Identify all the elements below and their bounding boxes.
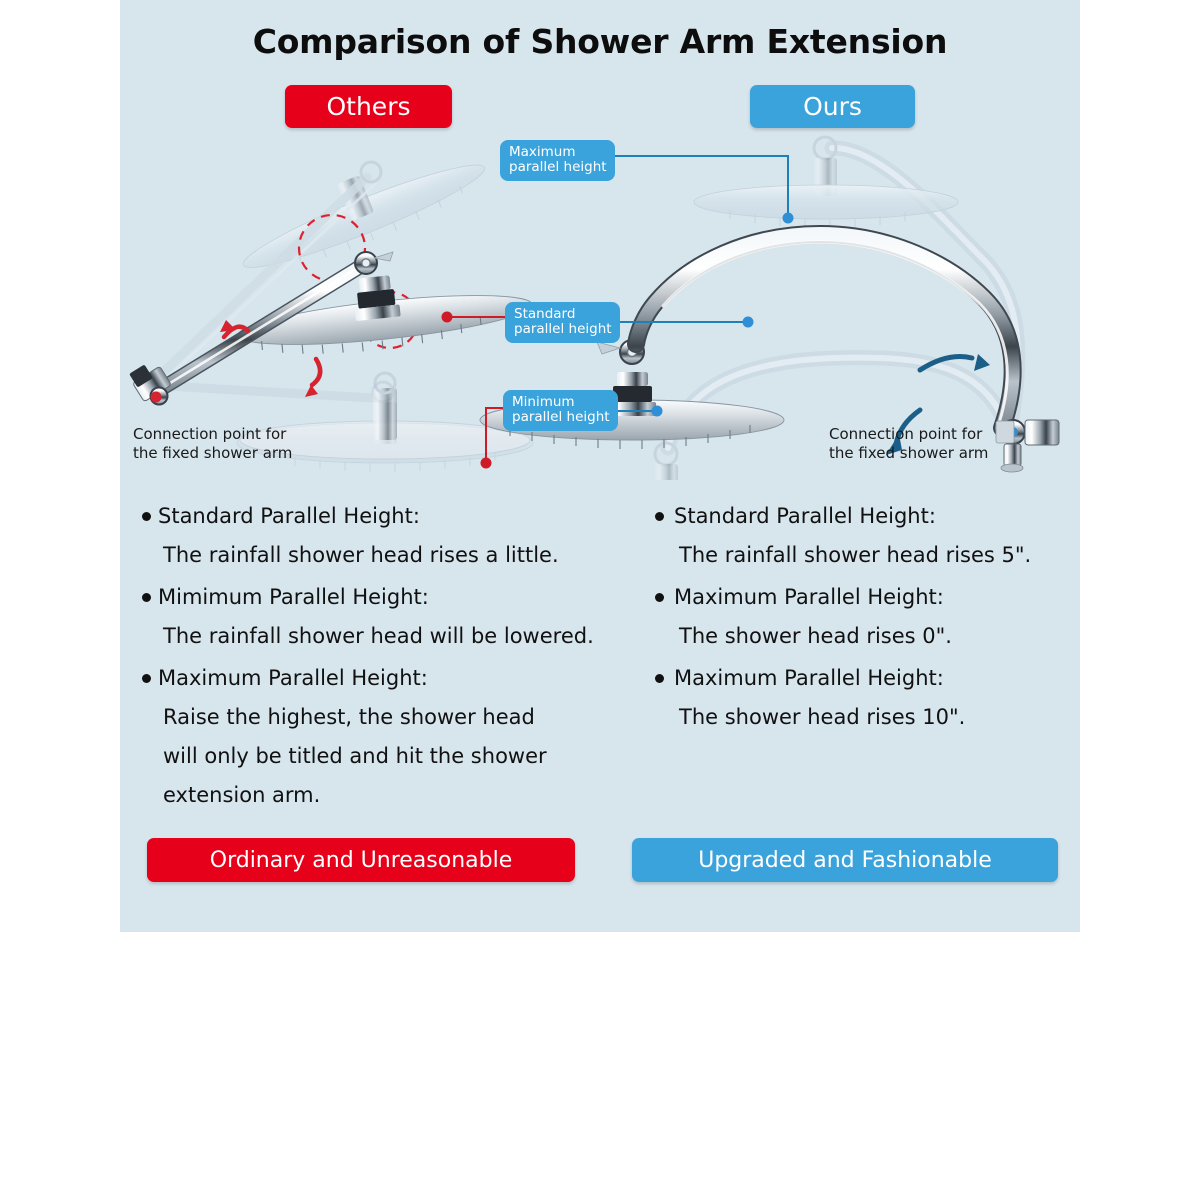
others-illustration xyxy=(129,152,534,472)
ours-bullet-2-body-1: The shower head rises 0". xyxy=(655,617,1085,656)
ours-bullet-3-body-1: The shower head rises 10". xyxy=(655,698,1085,737)
others-verdict-banner: Ordinary and Unreasonable xyxy=(147,838,575,882)
ours-badge: Ours xyxy=(750,85,915,128)
callout-maximum-line2: parallel height xyxy=(509,160,607,175)
list-item: Standard Parallel Height: The rainfall s… xyxy=(142,497,682,575)
bullet-dot-icon xyxy=(142,674,151,683)
callout-standard-parallel-height: Standard parallel height xyxy=(505,302,620,343)
others-bullet-2-body-1: The rainfall shower head will be lowered… xyxy=(142,617,682,656)
ours-verdict-banner: Upgraded and Fashionable xyxy=(632,838,1058,882)
others-connection-caption: Connection point for the fixed shower ar… xyxy=(133,425,292,463)
ours-bullet-3-head: Maximum Parallel Height: xyxy=(674,659,944,698)
callout-maximum-line1: Maximum xyxy=(509,145,607,160)
others-bullet-3-body-2: will only be titled and hit the shower xyxy=(142,737,682,776)
others-bullet-3-body-1: Raise the highest, the shower head xyxy=(142,698,682,737)
others-connection-point-dot xyxy=(151,392,162,403)
others-badge: Others xyxy=(285,85,452,128)
others-ghost-high xyxy=(150,152,494,385)
list-item: Mimimum Parallel Height: The rainfall sh… xyxy=(142,578,682,656)
bullet-dot-icon xyxy=(655,512,664,521)
list-item: Standard Parallel Height: The rainfall s… xyxy=(655,497,1085,575)
others-bullet-1-head: Standard Parallel Height: xyxy=(158,497,420,536)
ours-bullet-2-head: Maximum Parallel Height: xyxy=(674,578,944,617)
others-connection-caption-line1: Connection point for xyxy=(133,425,292,444)
others-badge-label: Others xyxy=(326,92,410,121)
bullet-dot-icon xyxy=(655,593,664,602)
others-bullet-3-body-3: extension arm. xyxy=(142,776,682,815)
ours-verdict-label: Upgraded and Fashionable xyxy=(698,848,992,873)
rotation-arrow-down xyxy=(312,359,320,385)
callout-minimum-line1: Minimum xyxy=(512,395,610,410)
ours-connection-caption-line1: Connection point for xyxy=(829,425,988,444)
bullet-dot-icon xyxy=(655,674,664,683)
list-item: Maximum Parallel Height: The shower head… xyxy=(655,659,1085,737)
callout-maximum-parallel-height: Maximum parallel height xyxy=(500,140,615,181)
ours-bullet-1-head: Standard Parallel Height: xyxy=(674,497,936,536)
page-title: Comparison of Shower Arm Extension xyxy=(120,22,1080,61)
ours-connection-caption-line2: the fixed shower arm xyxy=(829,444,988,463)
bullet-dot-icon xyxy=(142,593,151,602)
others-verdict-label: Ordinary and Unreasonable xyxy=(210,848,513,873)
bullet-dot-icon xyxy=(142,512,151,521)
others-bullet-3-head: Maximum Parallel Height: xyxy=(158,659,428,698)
ours-feature-list: Standard Parallel Height: The rainfall s… xyxy=(655,497,1085,740)
others-feature-list: Standard Parallel Height: The rainfall s… xyxy=(142,497,682,818)
callout-standard-line2: parallel height xyxy=(514,322,612,337)
callout-standard-line1: Standard xyxy=(514,307,612,322)
callout-minimum-line2: parallel height xyxy=(512,410,610,425)
others-bullet-2-head: Mimimum Parallel Height: xyxy=(158,578,429,617)
others-connection-caption-line2: the fixed shower arm xyxy=(133,444,292,463)
list-item: Maximum Parallel Height: Raise the highe… xyxy=(142,659,682,815)
list-item: Maximum Parallel Height: The shower head… xyxy=(655,578,1085,656)
ours-bullet-1-body-1: The rainfall shower head rises 5". xyxy=(655,536,1085,575)
callout-minimum-parallel-height: Minimum parallel height xyxy=(503,390,618,431)
others-bullet-1-body-1: The rainfall shower head rises a little. xyxy=(142,536,682,575)
ours-badge-label: Ours xyxy=(803,92,862,121)
ours-connection-caption: Connection point for the fixed shower ar… xyxy=(829,425,988,463)
comparison-panel: Comparison of Shower Arm Extension Other… xyxy=(120,0,1080,932)
